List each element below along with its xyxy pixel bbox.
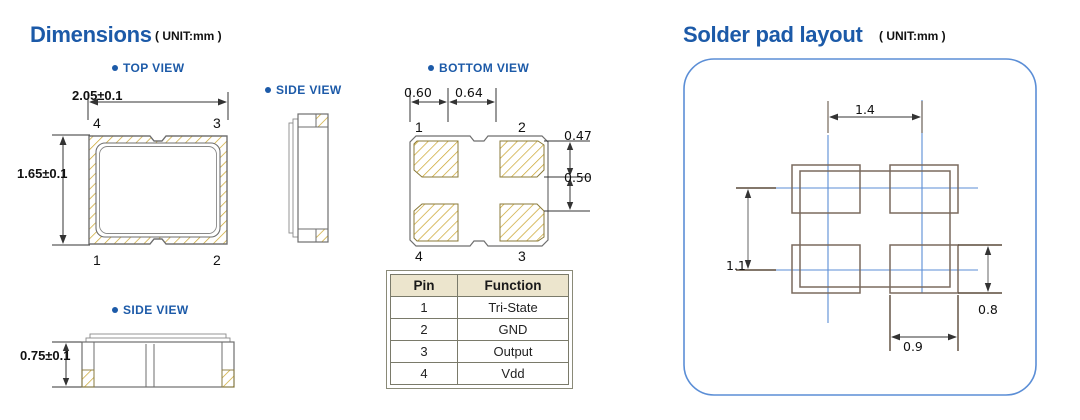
dimensions-section-title: Dimensions	[30, 22, 152, 48]
bottom-view-pin-3: 3	[518, 248, 526, 264]
bottom-view-pin-1: 1	[415, 119, 423, 135]
bottom-view-pin-2: 2	[518, 119, 526, 135]
cell-pin: 1	[391, 297, 458, 319]
table-row: 1 Tri-State	[391, 297, 569, 319]
bullet-icon	[265, 87, 271, 93]
cell-pin: 3	[391, 341, 458, 363]
side-view-right-body	[298, 114, 328, 242]
top-view-pin-4: 4	[93, 115, 101, 131]
solder-dim-right: 0.8	[978, 302, 998, 317]
side-view-right-pad-top	[316, 114, 328, 127]
bottom-view-pad-1	[414, 141, 458, 177]
cell-pin: 4	[391, 363, 458, 385]
side-view-right-pad-bottom	[316, 229, 328, 242]
header-function: Function	[458, 275, 569, 297]
solder-unit-label: ( UNIT:mm )	[879, 29, 946, 43]
dimensions-unit-label: ( UNIT:mm )	[155, 29, 222, 43]
top-view-height-dimension: 1.65±0.1	[17, 166, 68, 181]
top-view-label: TOP VIEW	[112, 61, 184, 75]
cell-function: GND	[458, 319, 569, 341]
bottom-view-pad-2	[500, 141, 544, 177]
cell-function: Output	[458, 341, 569, 363]
side-view-right-label: SIDE VIEW	[265, 83, 342, 97]
bottom-view-pad-width-dimension: 0.60	[404, 85, 432, 100]
side-view-right-drawing	[280, 105, 350, 255]
header-pin: Pin	[391, 275, 458, 297]
cell-function: Tri-State	[458, 297, 569, 319]
bottom-view-pad-4	[414, 204, 458, 241]
bottom-view-pin-4: 4	[415, 248, 423, 264]
table-row: 2 GND	[391, 319, 569, 341]
bottom-view-pad-pitch-dimension: 0.50	[564, 170, 592, 185]
side-view-bottom-pad-right	[222, 370, 234, 387]
bottom-view-label: BOTTOM VIEW	[428, 61, 529, 75]
solder-dim-bottom: 0.9	[903, 339, 923, 354]
pin-function-table: Pin Function 1 Tri-State 2 GND 3 Output …	[386, 270, 573, 389]
top-view-pin-3: 3	[213, 115, 221, 131]
solder-dim-left: 1.1	[726, 258, 746, 273]
bullet-icon	[112, 307, 118, 313]
top-view-pin-2: 2	[213, 252, 221, 268]
table-row: 4 Vdd	[391, 363, 569, 385]
side-view-bottom-label: SIDE VIEW	[112, 303, 189, 317]
table-header-row: Pin Function	[391, 275, 569, 297]
cell-function: Vdd	[458, 363, 569, 385]
side-view-bottom-height-dimension: 0.75±0.1	[20, 348, 71, 363]
bottom-view-pad-height-dimension: 0.47	[564, 128, 592, 143]
solder-section-title: Solder pad layout	[683, 22, 862, 48]
top-view-pin-1: 1	[93, 252, 101, 268]
bullet-icon	[112, 65, 118, 71]
bullet-icon	[428, 65, 434, 71]
top-view-width-dimension: 2.05±0.1	[72, 88, 123, 103]
cell-pin: 2	[391, 319, 458, 341]
solder-dim-top: 1.4	[855, 102, 875, 117]
side-view-bottom-body	[82, 342, 234, 387]
table-row: 3 Output	[391, 341, 569, 363]
bottom-view-pad-gap-dimension: 0.64	[455, 85, 483, 100]
bottom-view-pad-3	[500, 204, 544, 241]
side-view-bottom-pad-left	[82, 370, 94, 387]
